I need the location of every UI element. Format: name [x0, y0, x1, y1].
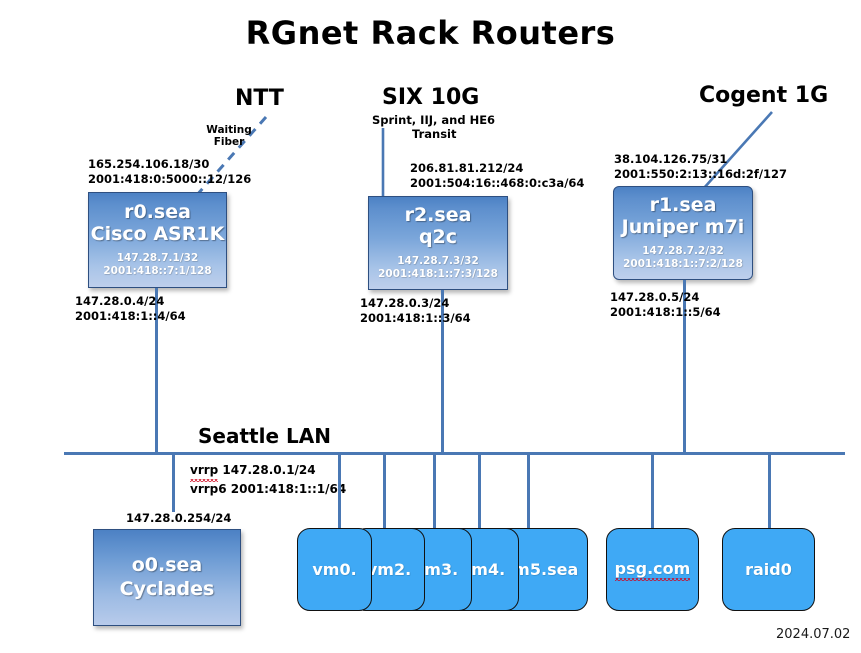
- lan-addr-r1: 147.28.0.5/24 2001:418:1::5/64: [610, 290, 721, 320]
- router-loopback-r1-sea-v6: 2001:418:1::7:2/128: [623, 258, 743, 271]
- host-label-vm2: vm2.: [367, 560, 411, 579]
- router-loopback-r1-sea: 147.28.7.2/32 2001:418:1::7:2/128: [623, 245, 743, 272]
- lan-addr-r2-v4: 147.28.0.3/24: [360, 296, 471, 311]
- uplink-addr-r0: 165.254.106.18/30 2001:418:0:5000::12/12…: [88, 157, 251, 187]
- router-name-r1-sea: r1.sea: [650, 195, 717, 217]
- uplink-addr-r1: 38.104.126.75/31 2001:550:2:13::16d:2f/1…: [614, 152, 787, 182]
- uplink-addr-r0-v6: 2001:418:0:5000::12/126: [88, 172, 251, 187]
- host-drop-line-psg: [651, 452, 654, 528]
- lan-addr-r0-v4: 147.28.0.4/24: [75, 294, 186, 309]
- router-model-r0-sea: Cisco ASR1K: [91, 224, 225, 246]
- lan-vrrp6-address: 2001:418:1::1/64: [227, 482, 347, 496]
- datestamp: 2024.07.02: [776, 627, 850, 642]
- router-box-r0-sea[interactable]: r0.sea Cisco ASR1K 147.28.7.1/32 2001:41…: [88, 192, 227, 288]
- console-model-o0-sea: Cyclades: [120, 578, 215, 602]
- router-loopback-r2-sea-v6: 2001:418:1::7:3/128: [378, 268, 498, 281]
- uplink-addr-r2: 206.81.81.212/24 2001:504:16::468:0:c3a/…: [410, 161, 584, 191]
- lan-vrrp6-line: vrrp6 2001:418:1::1/64: [190, 482, 346, 498]
- router-name-r2-sea: r2.sea: [405, 205, 472, 227]
- router-loopback-r0-sea-v6: 2001:418::7:1/128: [103, 265, 211, 278]
- lan-addr-r2-v6: 2001:418:1::3/64: [360, 311, 471, 326]
- lan-bus-line: [64, 452, 845, 455]
- lan-addr-r0: 147.28.0.4/24 2001:418:1::4/64: [75, 294, 186, 324]
- lan-addr-r1-v4: 147.28.0.5/24: [610, 290, 721, 305]
- lan-vrrp4-address: 147.28.0.1/24: [218, 463, 315, 477]
- lan-addr-r1-v6: 2001:418:1::5/64: [610, 305, 721, 320]
- uplink-addr-r2-v6: 2001:504:16::468:0:c3a/64: [410, 176, 584, 191]
- host-drop-line-vm4: [478, 452, 481, 528]
- router-loopback-r1-sea-v4: 147.28.7.2/32: [623, 245, 743, 258]
- router-model-r1-sea: Juniper m7i: [622, 217, 745, 239]
- host-drop-line-raid0: [768, 452, 771, 528]
- host-label-raid0: raid0: [745, 560, 792, 579]
- uplink-note-ntt-line2: Fiber: [190, 136, 268, 148]
- page-title: RGnet Rack Routers: [0, 14, 861, 52]
- lan-title: Seattle LAN: [198, 424, 331, 448]
- uplink-label-ntt: NTT: [235, 86, 284, 111]
- host-label-psg-com: psg.com: [615, 559, 691, 581]
- router-name-r0-sea: r0.sea: [124, 202, 191, 224]
- router-loopback-r0-sea: 147.28.7.1/32 2001:418::7:1/128: [103, 252, 211, 279]
- uplink-note-six-line2: Transit: [412, 127, 495, 141]
- router-model-r2-sea: q2c: [419, 227, 457, 249]
- router-box-r1-sea[interactable]: r1.sea Juniper m7i 147.28.7.2/32 2001:41…: [613, 186, 753, 280]
- uplink-addr-r1-v6: 2001:550:2:13::16d:2f/127: [614, 167, 787, 182]
- uplink-addr-r2-v4: 206.81.81.212/24: [410, 161, 584, 176]
- host-drop-line-vm3: [433, 452, 436, 528]
- uplink-label-cogent: Cogent 1G: [699, 83, 828, 108]
- uplink-note-ntt-line1: Waiting: [190, 124, 268, 136]
- console-name-o0-sea: o0.sea: [132, 554, 203, 578]
- uplink-note-six: Sprint, IIJ, and HE6 Transit: [372, 113, 495, 141]
- host-box-raid0[interactable]: raid0: [722, 528, 815, 611]
- uplink-note-ntt: Waiting Fiber: [190, 124, 268, 148]
- router-loopback-r2-sea: 147.28.7.3/32 2001:418:1::7:3/128: [378, 255, 498, 282]
- host-drop-line-vm5: [527, 452, 530, 528]
- uplink-label-six: SIX 10G: [382, 85, 479, 110]
- uplink-addr-r1-v4: 38.104.126.75/31: [614, 152, 787, 167]
- console-address: 147.28.0.254/24: [126, 511, 231, 526]
- console-box-o0-sea[interactable]: o0.sea Cyclades: [93, 529, 241, 626]
- host-box-vm0[interactable]: vm0.: [297, 528, 372, 611]
- uplink-addr-r0-v4: 165.254.106.18/30: [88, 157, 251, 172]
- router-loopback-r2-sea-v4: 147.28.7.3/32: [378, 255, 498, 268]
- host-drop-line-vm2: [383, 452, 386, 528]
- router-loopback-r0-sea-v4: 147.28.7.1/32: [103, 252, 211, 265]
- host-label-vm0: vm0.: [312, 560, 356, 579]
- lan-addr-r0-v6: 2001:418:1::4/64: [75, 309, 186, 324]
- lan-vrrp-labels: vrrp 147.28.0.1/24 vrrp6 2001:418:1::1/6…: [190, 463, 346, 498]
- diagram-canvas: RGnet Rack Routers NTT Waiting Fiber SIX…: [0, 0, 861, 653]
- lan-vrrp4-keyword: vrrp: [190, 463, 218, 482]
- lan-vrrp6-keyword: vrrp6: [190, 482, 227, 496]
- host-drop-line-vm0: [338, 452, 341, 528]
- host-drop-line-o0: [172, 452, 175, 512]
- lan-vrrp4-line: vrrp 147.28.0.1/24: [190, 463, 346, 482]
- router-box-r2-sea[interactable]: r2.sea q2c 147.28.7.3/32 2001:418:1::7:3…: [368, 196, 508, 290]
- host-box-psg-com[interactable]: psg.com: [606, 528, 699, 611]
- uplink-note-six-line1: Sprint, IIJ, and HE6: [372, 113, 495, 127]
- lan-addr-r2: 147.28.0.3/24 2001:418:1::3/64: [360, 296, 471, 326]
